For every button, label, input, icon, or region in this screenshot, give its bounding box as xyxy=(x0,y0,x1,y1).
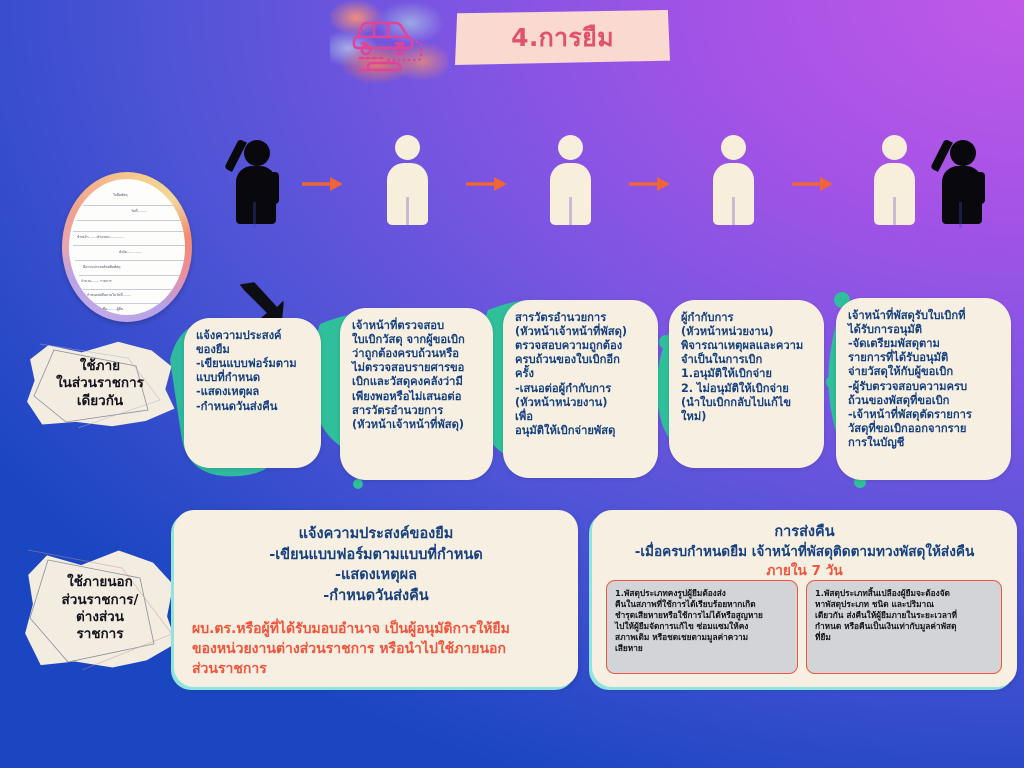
label-line-0: ใช้ภาย xyxy=(80,358,120,375)
card-step-4-text: ผู้กำกับการ (หัวหน้าหน่วยงาน) พิจารณาเหต… xyxy=(681,311,814,424)
figure-raised-arm-right xyxy=(928,132,998,230)
form-line-0: ใบยืมพัสดุ xyxy=(113,193,128,198)
card-return-highlight: ภายใน 7 วัน xyxy=(606,562,1003,581)
card-return-title: การส่งคืน xyxy=(606,522,1003,543)
card-step-2[interactable]: เจ้าหน้าที่ตรวจสอบ ใบเบิกวัสดุ จากผู้ขอเ… xyxy=(340,308,493,480)
return-rule-durable[interactable]: 1.พัสดุประเภทคงรูปผู้ยืมต้องส่ง คืนในสภา… xyxy=(606,580,798,674)
form-rule xyxy=(77,220,185,221)
form-line-2: ข้าพเจ้า........ตำแหน่ง............. xyxy=(77,235,124,240)
sidebar-item-label-internal: ใช้ภาย ในส่วนราชการ เดียวกัน xyxy=(24,340,176,428)
form-line-3: สังกัด.............. xyxy=(119,250,142,255)
form-rule xyxy=(73,245,185,246)
label-line-2: ต่างส่วน xyxy=(76,609,124,626)
form-line-4: มีความประสงค์ขอยืมพัสดุ xyxy=(83,265,120,270)
card-step-2-text: เจ้าหน้าที่ตรวจสอบ ใบเบิกวัสดุ จากผู้ขอเ… xyxy=(352,319,483,432)
lowered-arm xyxy=(270,172,279,204)
return-rule-consumable-text: 1.พัสดุประเภทสิ้นเปลืองผู้ยืมจะต้องจัด ห… xyxy=(815,588,994,643)
figure-head xyxy=(721,135,746,160)
card-return-subtitle: -เมื่อครบกำหนดยืม เจ้าหน้าที่พัสดุติดตาม… xyxy=(606,543,1003,562)
form-line-7: ลงชื่อ.........ผู้ยืม xyxy=(99,307,123,312)
label-text-block: ใช้ภายนอก ส่วนราชการ/ ต่างส่วน ราชการ xyxy=(22,548,178,670)
card-borrow-intent[interactable]: แจ้งความประสงค์ของยืม -เขียนแบบฟอร์มตามแ… xyxy=(174,510,578,687)
card-borrow-intent-note: ผบ.ตร.หรือผู้ที่ได้รับมอบอำนาจ เป็นผู้อน… xyxy=(192,620,560,680)
form-line-5: จำนวน....... รายการ xyxy=(81,279,112,284)
label-line-1: ในส่วนราชการ xyxy=(56,375,144,392)
figure-head xyxy=(244,140,270,166)
leg-gap xyxy=(406,197,409,225)
page-title: 4.การยืม xyxy=(511,18,614,58)
leg-gap xyxy=(569,197,572,225)
card-step-3[interactable]: สารวัตรอำนวยการ (หัวหน้าเจ้าหน้าที่พัสดุ… xyxy=(503,300,658,478)
leg-gap xyxy=(253,202,256,228)
flow-arrow-3 xyxy=(629,176,671,192)
figure-head xyxy=(882,135,907,160)
figure-head xyxy=(395,135,420,160)
figure-person-2 xyxy=(550,135,591,227)
card-step-1-text: แจ้งความประสงค์ ของยืม -เขียนแบบฟอร์มตาม… xyxy=(196,329,311,414)
figure-head xyxy=(558,135,583,160)
flow-arrow-4 xyxy=(792,176,834,192)
card-step-5-text: เจ้าหน้าที่พัสดุรับใบเบิกที่ ได้รับการอน… xyxy=(848,309,1001,450)
card-step-1[interactable]: แจ้งความประสงค์ ของยืม -เขียนแบบฟอร์มตาม… xyxy=(184,318,321,468)
form-line-1: วันที่......... xyxy=(131,209,147,214)
figure-head xyxy=(950,140,976,166)
return-rule-durable-text: 1.พัสดุประเภทคงรูปผู้ยืมต้องส่ง คืนในสภา… xyxy=(615,588,790,654)
label-text-block: ใช้ภาย ในส่วนราชการ เดียวกัน xyxy=(24,340,176,428)
card-step-5[interactable]: เจ้าหน้าที่พัสดุรับใบเบิกที่ ได้รับการอน… xyxy=(836,298,1011,480)
header: 4.การยืม xyxy=(330,0,670,92)
form-rule xyxy=(89,303,181,304)
label-line-1: ส่วนราชการ/ xyxy=(62,592,139,609)
leg-gap xyxy=(732,197,735,225)
title-plate: 4.การยืม xyxy=(455,10,670,65)
return-rule-consumable[interactable]: 1.พัสดุประเภทสิ้นเปลืองผู้ยืมจะต้องจัด ห… xyxy=(806,580,1002,674)
sidebar-item-label-external: ใช้ภายนอก ส่วนราชการ/ ต่างส่วน ราชการ xyxy=(22,548,178,670)
label-line-3: ราชการ xyxy=(77,626,124,643)
infographic-canvas: 4.การยืม xyxy=(0,0,1024,768)
card-step-3-text: สารวัตรอำนวยการ (หัวหน้าเจ้าหน้าที่พัสดุ… xyxy=(515,311,648,438)
figure-person-4 xyxy=(874,135,915,227)
form-line-6: กำหนดส่งคืนภายในวันที่........ xyxy=(87,293,131,298)
card-borrow-intent-title: แจ้งความประสงค์ของยืม -เขียนแบบฟอร์มตามแ… xyxy=(192,524,560,606)
flow-arrow-2 xyxy=(466,176,508,192)
card-step-4[interactable]: ผู้กำกับการ (หัวหน้าหน่วยงาน) พิจารณาเหต… xyxy=(669,300,824,468)
form-rule xyxy=(83,205,183,206)
figure-person-1 xyxy=(387,135,428,227)
leg-gap xyxy=(893,197,896,225)
card-return[interactable]: การส่งคืน -เมื่อครบกำหนดยืม เจ้าหน้าที่พ… xyxy=(592,510,1017,687)
lowered-arm xyxy=(976,172,985,204)
form-face: ใบยืมพัสดุ วันที่......... ข้าพเจ้า.....… xyxy=(69,179,185,315)
figure-person-3 xyxy=(713,135,754,227)
car-handover-icon xyxy=(348,12,432,78)
form-rule xyxy=(75,260,185,261)
form-rule xyxy=(73,231,185,232)
label-line-0: ใช้ภายนอก xyxy=(67,574,133,591)
leg-gap xyxy=(959,202,962,228)
figure-raised-arm-left xyxy=(222,132,292,230)
form-rule xyxy=(79,275,185,276)
label-line-2: เดียวกัน xyxy=(77,393,123,410)
flow-arrow-1 xyxy=(302,176,344,192)
